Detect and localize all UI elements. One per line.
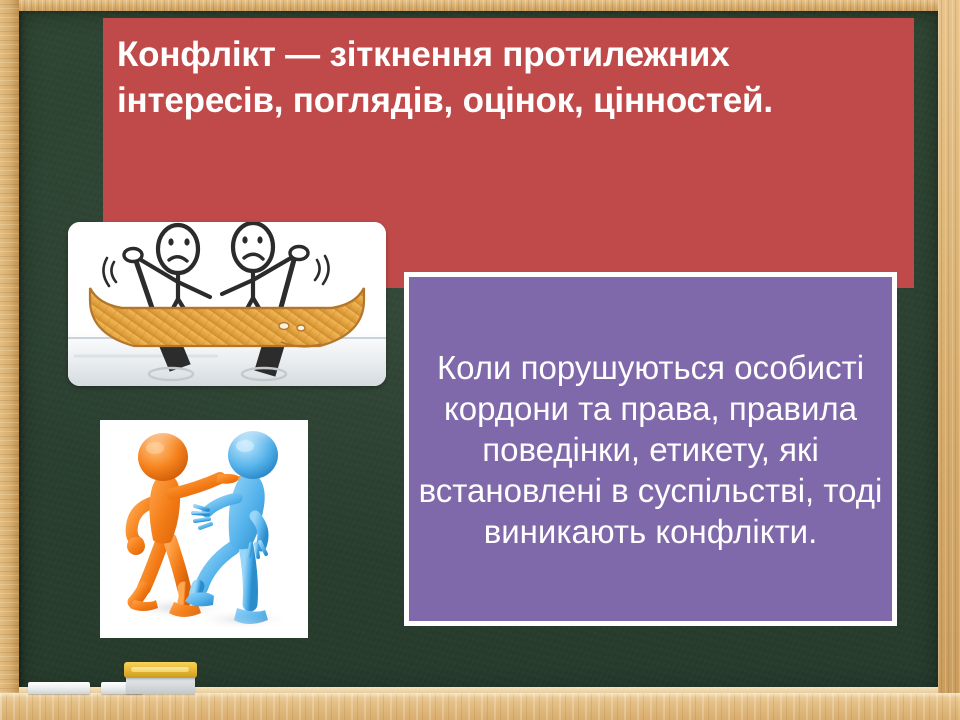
eraser-felt [126,676,195,694]
eraser-groove [131,667,189,672]
slide-canvas: Конфлікт — зіткнення протилежних інтерес… [0,0,960,720]
frame-right-wood [938,0,960,720]
blaming-illustration [100,420,308,638]
eraser-handle [124,662,197,678]
image-blaming-figures [100,420,308,638]
chalk-ledge [0,693,960,720]
image-canoe-argument [68,222,386,386]
frame-top-wood [0,0,960,11]
chalk-stick-1 [28,682,90,694]
page-title: Конфлікт — зіткнення протилежних інтерес… [117,32,900,124]
board-eraser [124,662,197,694]
body-panel: Коли порушуються особисті кордони та пра… [404,272,897,626]
frame-left-wood [0,0,19,720]
body-text: Коли порушуються особисті кордони та пра… [409,347,892,552]
canoe-illustration [68,222,386,386]
